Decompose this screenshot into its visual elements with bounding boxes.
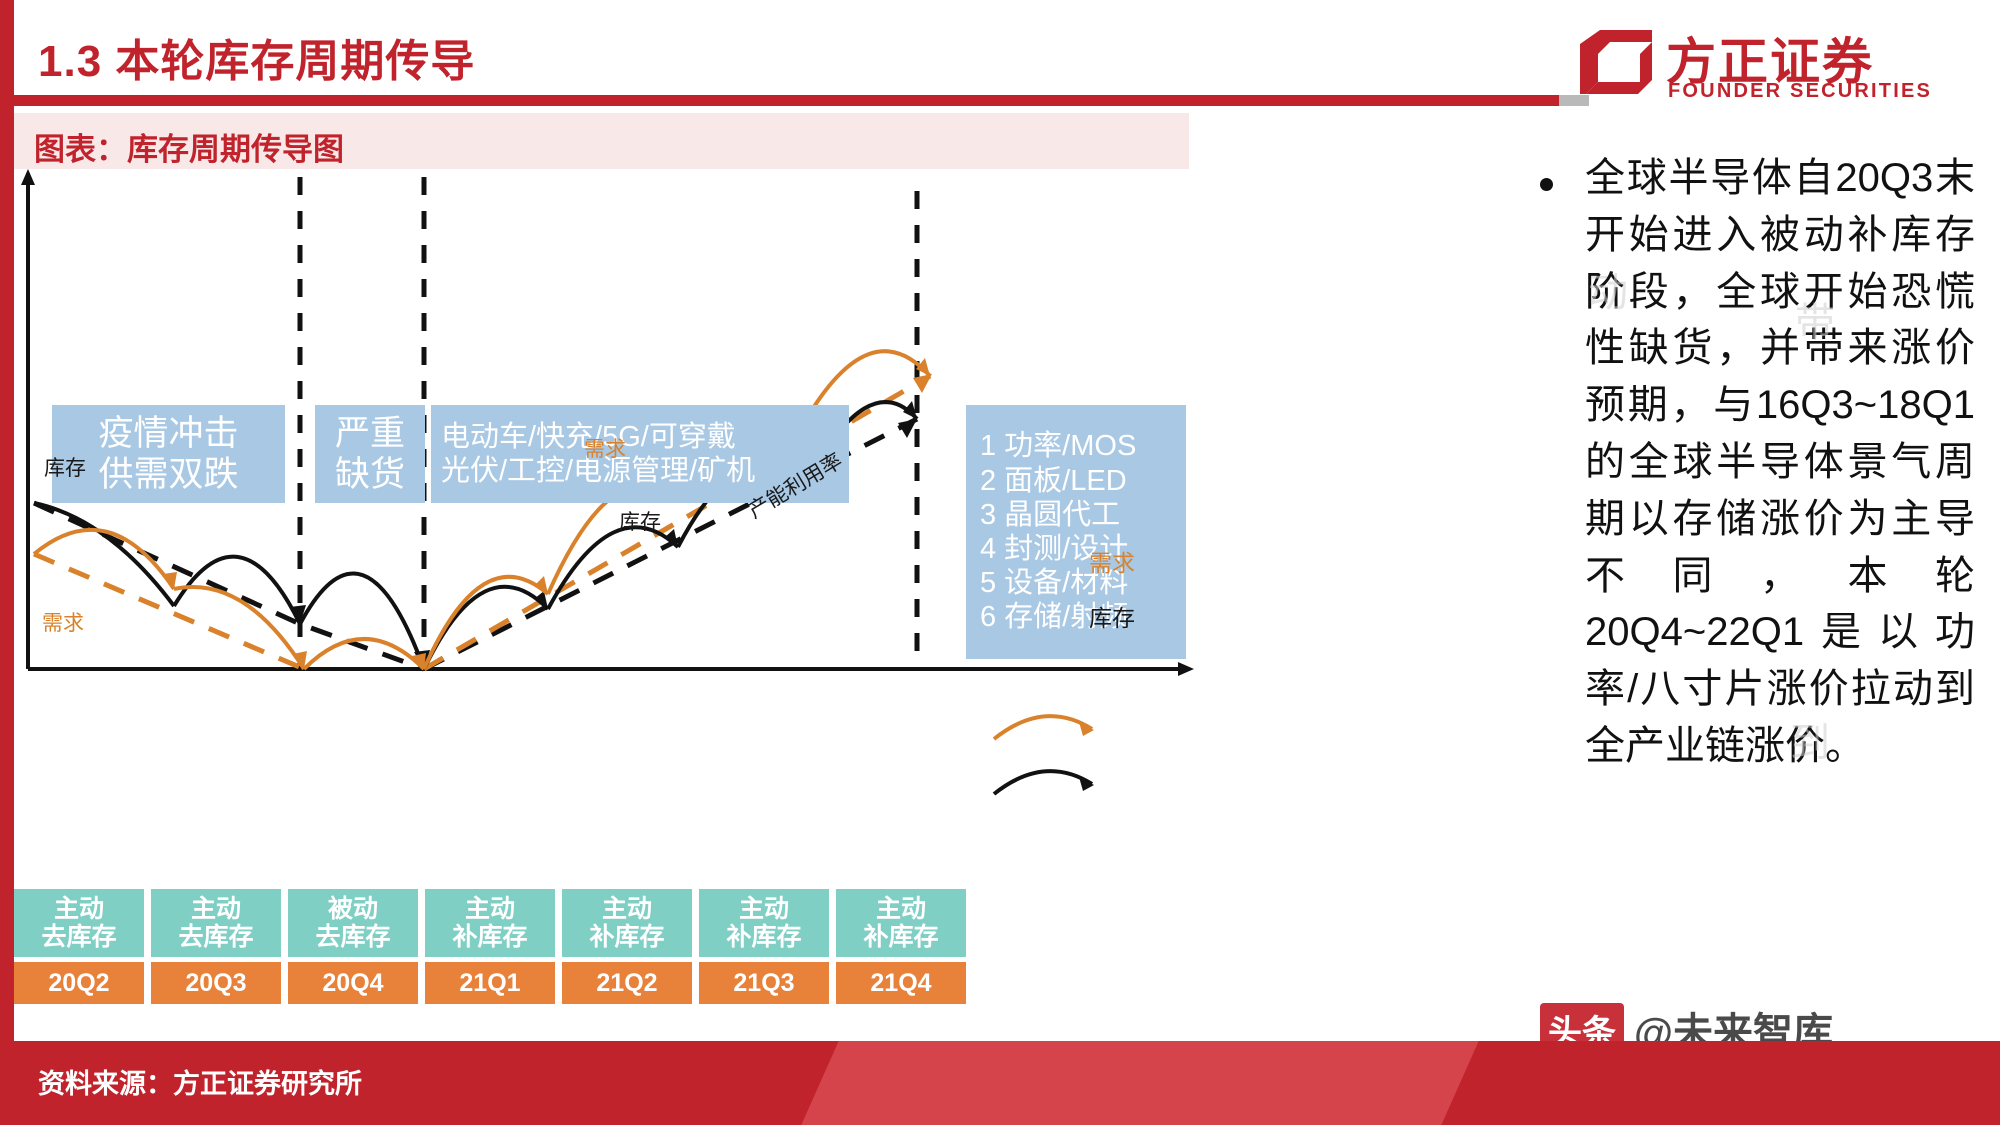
phase-box-covid-shock: 疫情冲击 供需双跌 [52,405,285,503]
stage-line: 补库存 [589,923,664,951]
sector-item: 1 功率/MOS [980,429,1136,463]
legend-label-inventory: 库存 [1089,599,1135,633]
stage-cell: 主动 去库存 [14,889,144,957]
curve-label-inventory-left: 库存 [44,452,86,482]
legend-label-demand: 需求 [1089,544,1135,578]
stage-cell: 被动 去库存 [288,889,418,957]
footer-accent-shape [801,1041,1478,1125]
phase-box-line: 缺货 [335,454,405,495]
quarter-cell: 21Q2 [562,962,692,1004]
source-note: 资料来源：方正证券研究所 [38,1062,362,1101]
quarter-cell: 20Q2 [14,962,144,1004]
phase-box-severe-shortage: 严重 缺货 [315,405,425,503]
quarter-cell: 21Q4 [836,962,966,1004]
stage-line: 补库存 [452,923,527,951]
quarter-cell: 20Q4 [288,962,418,1004]
stage-cell: 主动 补库存 [425,889,555,957]
phase-box-line: 供需双跌 [98,454,238,495]
stage-line: 主动 [876,895,926,923]
stage-line: 补库存 [863,923,938,951]
figure-caption: 图表：库存周期传导图 [34,124,344,169]
page-title: 1.3 本轮库存周期传导 [38,25,475,89]
title-underline-rule [14,95,1559,106]
stage-line: 去库存 [41,923,116,951]
stage-line: 主动 [602,895,652,923]
stage-cell: 主动 补库存 [562,889,692,957]
curve-label-demand-mid: 需求 [584,433,626,463]
quarter-cell: 20Q3 [151,962,281,1004]
stage-cell: 主动 去库存 [151,889,281,957]
stage-line: 补库存 [726,923,801,951]
stage-line: 去库存 [178,923,253,951]
stage-line: 去库存 [315,923,390,951]
bullet-point-icon [1540,178,1553,191]
ghost-watermark-char: 到 [1790,710,1830,768]
ghost-watermark-char: 动 [1588,260,1628,318]
quarter-cell: 21Q3 [699,962,829,1004]
left-accent-bar [0,0,14,1125]
stage-line: 主动 [54,895,104,923]
curve-label-inventory-mid: 库存 [619,506,661,536]
stage-line: 主动 [191,895,241,923]
logo-mark-icon [1580,30,1652,94]
founder-securities-logo: 方正证券 FOUNDER SECURITIES [1580,26,1980,104]
curve-label-demand-left: 需求 [42,607,84,637]
stage-line: 主动 [465,895,515,923]
stage-line: 主动 [739,895,789,923]
sector-priority-box: 1 功率/MOS 2 面板/LED 3 晶圆代工 4 封测/设计 5 设备/材料… [966,405,1186,659]
commentary-paragraph: 全球半导体自20Q3末开始进入被动补库存阶段，全球开始恐慌性缺货，并带来涨价预期… [1585,150,1975,775]
sector-item: 2 面板/LED [980,464,1127,498]
sector-item: 3 晶圆代工 [980,498,1120,532]
stage-cell: 主动 补库存 [836,889,966,957]
inventory-cycle-chart: 疫情冲击 供需双跌 严重 缺货 电动车/快充/5G/可穿戴 光伏/工控/电源管理… [14,169,1194,829]
phase-box-line: 疫情冲击 [98,413,238,454]
ghost-watermark-char: 带 [1795,290,1835,348]
logo-english-name: FOUNDER SECURITIES [1668,80,1932,103]
stage-line: 被动 [328,895,378,923]
phase-box-line: 严重 [335,413,405,454]
stage-cell: 主动 补库存 [699,889,829,957]
quarter-cell: 21Q1 [425,962,555,1004]
